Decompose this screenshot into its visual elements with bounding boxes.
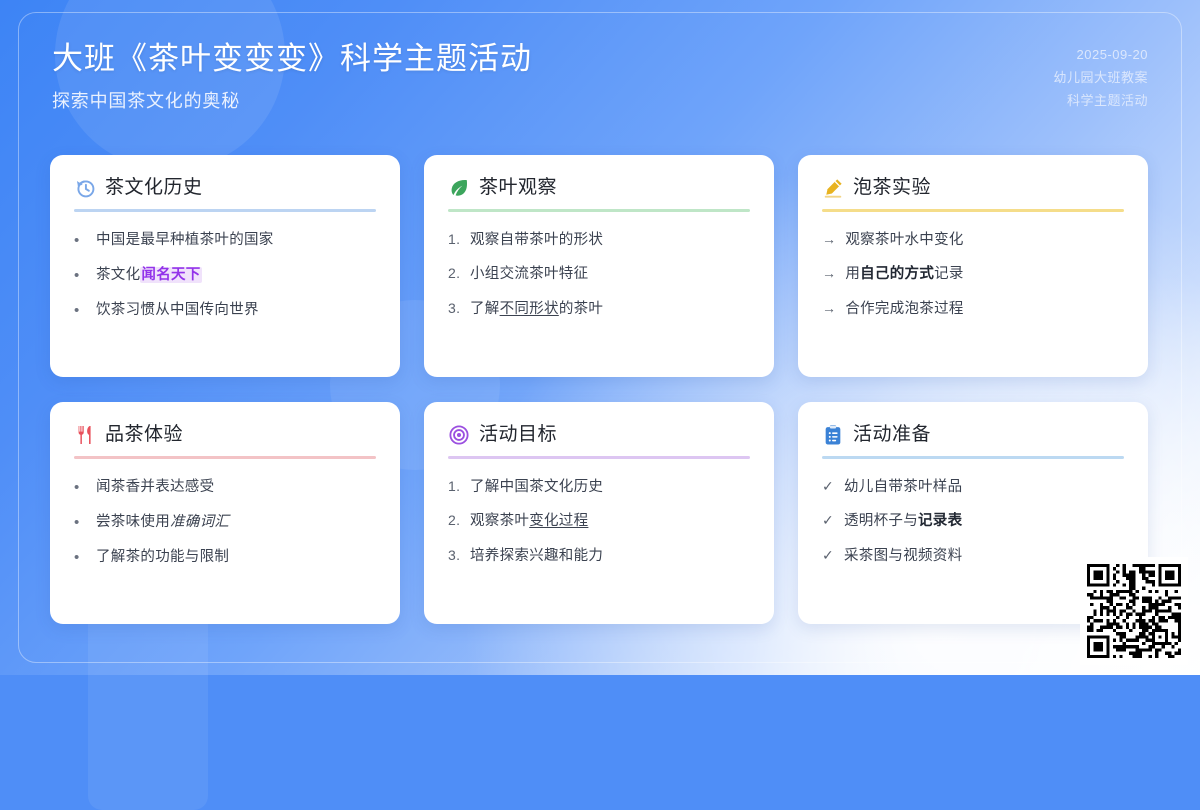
list-item-text: 小组交流茶叶特征	[470, 263, 588, 285]
list-marker-arrow: →	[822, 229, 836, 251]
content-card[interactable]: 茶文化历史•中国是最早种植茶叶的国家•茶文化闻名天下•饮茶习惯从中国传向世界	[50, 155, 400, 377]
list-item: →合作完成泡茶过程	[822, 298, 1124, 320]
card-title: 茶叶观察	[479, 177, 557, 200]
page-subtitle: 探索中国茶文化的奥秘	[52, 87, 1148, 113]
list-marker-check: ✓	[822, 545, 835, 567]
list-marker-number: 2.	[448, 510, 461, 532]
slide-root: 大班《茶叶变变变》科学主题活动 探索中国茶文化的奥秘 2025-09-20 幼儿…	[0, 0, 1200, 675]
card-header: 泡茶实验	[822, 177, 1124, 200]
page-title: 大班《茶叶变变变》科学主题活动	[52, 40, 1148, 79]
list-item: 1.了解中国茶文化历史	[448, 476, 750, 498]
card-accent-rule	[448, 209, 750, 212]
list-item: →用自己的方式记录	[822, 263, 1124, 285]
list-item-text: 中国是最早种植茶叶的国家	[96, 229, 274, 251]
meta-date: 2025-09-20	[1053, 44, 1148, 67]
list-marker-number: 1.	[448, 476, 461, 498]
list-marker-dot: •	[74, 229, 87, 252]
list-item-text: 采茶图与视频资料	[844, 545, 962, 567]
list-marker-number: 1.	[448, 229, 461, 251]
card-item-list: 1.观察自带茶叶的形状2.小组交流茶叶特征3.了解不同形状的茶叶	[448, 229, 750, 320]
list-marker-number: 2.	[448, 263, 461, 285]
list-marker-dot: •	[74, 299, 87, 322]
list-marker-dot: •	[74, 511, 87, 534]
content-card[interactable]: 泡茶实验→观察茶叶水中变化→用自己的方式记录→合作完成泡茶过程	[798, 155, 1148, 377]
fork-knife-icon	[74, 424, 96, 446]
card-item-list: 1.了解中国茶文化历史2.观察茶叶变化过程3.培养探索兴趣和能力	[448, 476, 750, 567]
card-title: 活动准备	[853, 424, 931, 447]
list-item-text: 观察茶叶变化过程	[470, 510, 588, 532]
target-icon	[448, 424, 470, 446]
meta-category: 幼儿园大班教案	[1053, 67, 1148, 90]
card-item-list: →观察茶叶水中变化→用自己的方式记录→合作完成泡茶过程	[822, 229, 1124, 320]
list-item: →观察茶叶水中变化	[822, 229, 1124, 251]
list-item-text: 尝茶味使用准确词汇	[96, 511, 229, 533]
list-item-text: 茶文化闻名天下	[96, 264, 202, 286]
card-title: 茶文化历史	[105, 177, 203, 200]
list-item: 3.了解不同形状的茶叶	[448, 298, 750, 320]
card-header: 活动目标	[448, 424, 750, 447]
card-header: 茶叶观察	[448, 177, 750, 200]
list-marker-dot: •	[74, 264, 87, 287]
meta-subject: 科学主题活动	[1053, 90, 1148, 113]
list-item: ✓幼儿自带茶叶样品	[822, 476, 1124, 498]
clipboard-icon	[822, 424, 844, 446]
slide-header: 大班《茶叶变变变》科学主题活动 探索中国茶文化的奥秘	[52, 40, 1148, 113]
list-item-text: 透明杯子与记录表	[844, 510, 962, 532]
list-marker-dot: •	[74, 476, 87, 499]
list-item-text: 合作完成泡茶过程	[845, 298, 963, 320]
list-item-text: 闻茶香并表达感受	[96, 476, 214, 498]
card-grid: 茶文化历史•中国是最早种植茶叶的国家•茶文化闻名天下•饮茶习惯从中国传向世界茶叶…	[50, 155, 1150, 624]
list-marker-check: ✓	[822, 510, 835, 532]
list-item: •闻茶香并表达感受	[74, 476, 376, 499]
list-item-text: 用自己的方式记录	[845, 263, 963, 285]
list-item: ✓采茶图与视频资料	[822, 545, 1124, 567]
card-accent-rule	[74, 209, 376, 212]
content-card[interactable]: 品茶体验•闻茶香并表达感受•尝茶味使用准确词汇•了解茶的功能与限制	[50, 402, 400, 624]
card-title: 泡茶实验	[853, 177, 931, 200]
card-item-list: ✓幼儿自带茶叶样品✓透明杯子与记录表✓采茶图与视频资料	[822, 476, 1124, 567]
card-header: 茶文化历史	[74, 177, 376, 200]
card-accent-rule	[74, 456, 376, 459]
list-marker-arrow: →	[822, 298, 836, 320]
list-item: 3.培养探索兴趣和能力	[448, 545, 750, 567]
card-item-list: •中国是最早种植茶叶的国家•茶文化闻名天下•饮茶习惯从中国传向世界	[74, 229, 376, 323]
list-item: 2.小组交流茶叶特征	[448, 263, 750, 285]
content-card[interactable]: 茶叶观察1.观察自带茶叶的形状2.小组交流茶叶特征3.了解不同形状的茶叶	[424, 155, 774, 377]
list-item: •饮茶习惯从中国传向世界	[74, 299, 376, 322]
list-marker-number: 3.	[448, 545, 461, 567]
list-item-text: 观察茶叶水中变化	[845, 229, 963, 251]
history-clock-icon	[74, 177, 96, 199]
list-marker-arrow: →	[822, 263, 836, 285]
pencil-icon	[822, 177, 844, 199]
card-accent-rule	[822, 456, 1124, 459]
card-header: 活动准备	[822, 424, 1124, 447]
list-item: 1.观察自带茶叶的形状	[448, 229, 750, 251]
list-item: •了解茶的功能与限制	[74, 546, 376, 569]
header-meta: 2025-09-20 幼儿园大班教案 科学主题活动	[1053, 44, 1148, 112]
list-item-text: 幼儿自带茶叶样品	[844, 476, 962, 498]
list-item: •尝茶味使用准确词汇	[74, 511, 376, 534]
list-marker-dot: •	[74, 546, 87, 569]
list-item: •茶文化闻名天下	[74, 264, 376, 287]
card-title: 品茶体验	[105, 424, 183, 447]
list-item-text: 了解中国茶文化历史	[470, 476, 603, 498]
list-item-text: 培养探索兴趣和能力	[470, 545, 603, 567]
content-card[interactable]: 活动目标1.了解中国茶文化历史2.观察茶叶变化过程3.培养探索兴趣和能力	[424, 402, 774, 624]
list-item: ✓透明杯子与记录表	[822, 510, 1124, 532]
card-item-list: •闻茶香并表达感受•尝茶味使用准确词汇•了解茶的功能与限制	[74, 476, 376, 570]
card-accent-rule	[822, 209, 1124, 212]
list-item-text: 观察自带茶叶的形状	[470, 229, 603, 251]
list-item: 2.观察茶叶变化过程	[448, 510, 750, 532]
list-item-text: 了解不同形状的茶叶	[470, 298, 603, 320]
leaf-icon	[448, 177, 470, 199]
card-title: 活动目标	[479, 424, 557, 447]
list-marker-number: 3.	[448, 298, 461, 320]
qr-code[interactable]	[1080, 557, 1188, 665]
card-accent-rule	[448, 456, 750, 459]
list-item-text: 饮茶习惯从中国传向世界	[96, 299, 259, 321]
card-header: 品茶体验	[74, 424, 376, 447]
list-item: •中国是最早种植茶叶的国家	[74, 229, 376, 252]
list-item-text: 了解茶的功能与限制	[96, 546, 229, 568]
list-marker-check: ✓	[822, 476, 835, 498]
